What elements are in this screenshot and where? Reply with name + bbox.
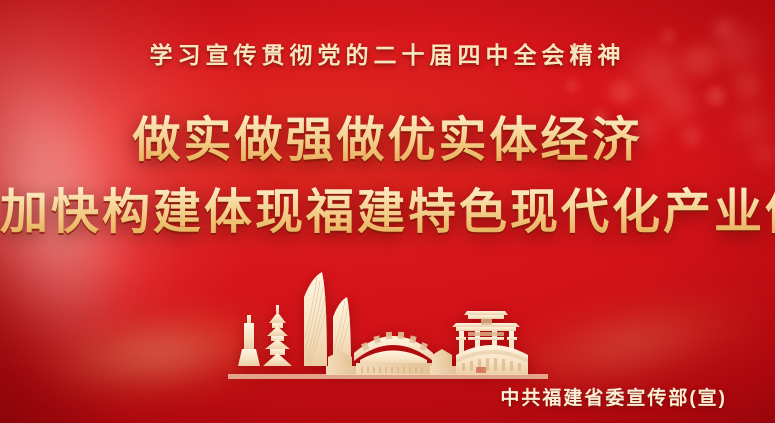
subheadline: 学习宣传贯彻党的二十届四中全会精神 [0, 36, 775, 70]
skyline-pagoda [263, 305, 292, 366]
bokeh-circle [563, 77, 581, 95]
skyline-sail-tower-large [304, 272, 327, 366]
main-title-line-2: 加快构建体现福建特色现代化产业体系 [0, 172, 775, 242]
propaganda-banner: 学习宣传贯彻党的二十届四中全会精神 做实做强做优实体经济 加快构建体现福建特色现… [0, 0, 775, 423]
swoosh-glow-hotspot [4, 280, 316, 423]
main-title-line-1: 做实做强做优实体经济 [0, 100, 775, 170]
attribution-text: 中共福建省委宣传部(宣) [500, 383, 727, 410]
skyline-low-buildings [326, 349, 456, 375]
skyline-arched-structure [354, 332, 433, 361]
skyline-sail-tower-small [333, 297, 351, 366]
skyline-paifang-gate [452, 311, 520, 366]
skyline-tower [238, 315, 260, 366]
fujian-skyline-silhouette [0, 267, 775, 387]
skyline-ground [228, 374, 548, 379]
skyline-grand-hall [356, 351, 432, 376]
skyline-domed-stadium [456, 345, 528, 375]
